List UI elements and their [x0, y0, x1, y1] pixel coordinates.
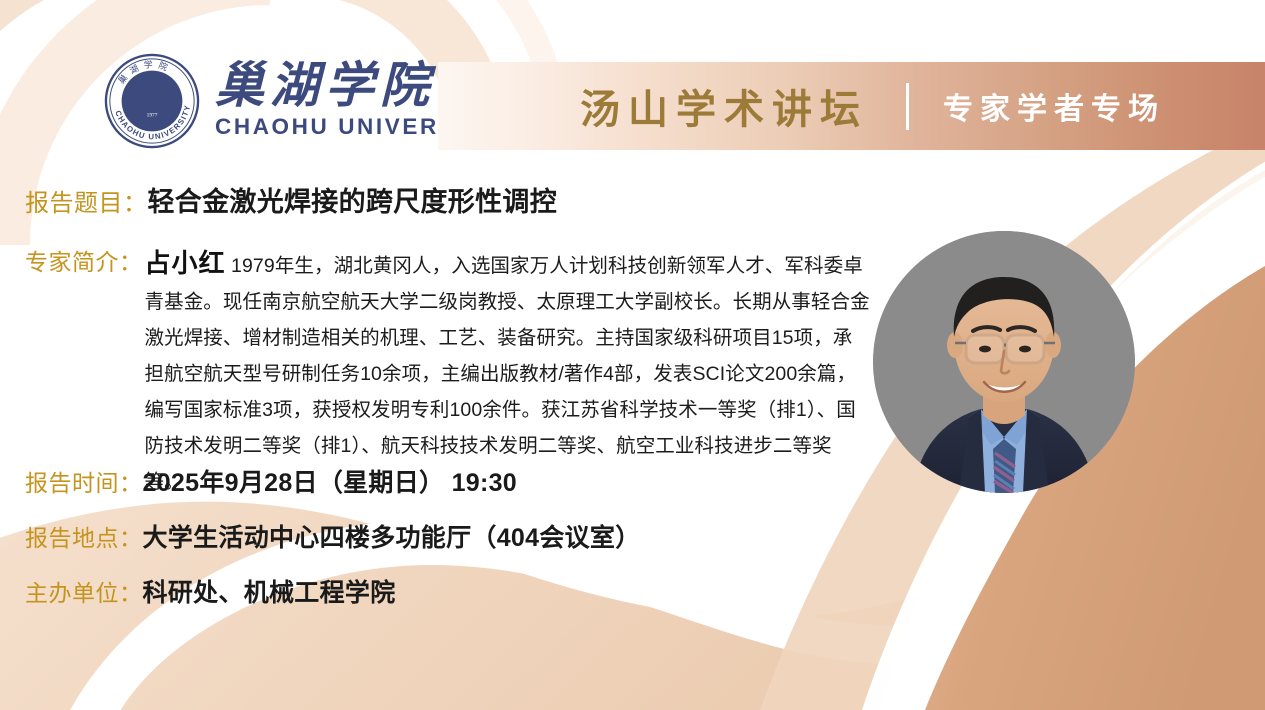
report-title-row: 报告题目： 轻合金激光焊接的跨尺度形性调控	[25, 180, 557, 219]
organizer-value: 科研处、机械工程学院	[143, 573, 396, 609]
report-place-label: 报告地点：	[25, 519, 143, 553]
speaker-bio-label: 专家简介：	[25, 243, 143, 277]
speaker-name: 占小红	[145, 248, 226, 278]
report-place-row: 报告地点： 大学生活动中心四楼多功能厅（404会议室）	[25, 518, 641, 554]
speaker-bio-text: 1979年生，湖北黄冈人，入选国家万人计划科技创新领军人才、军科委卓青基金。现任…	[145, 255, 870, 493]
report-time-row: 报告时间： 2025年9月28日（星期日） 19:30	[25, 463, 517, 499]
speaker-bio-row: 专家简介： 占小红 1979年生，湖北黄冈人，入选国家万人计划科技创新领军人才、…	[25, 243, 885, 500]
lecture-poster: 1977 巢湖学院 CHAOHU UNIVERSITY 巢湖学院 CHAOHU …	[0, 0, 1265, 710]
report-time-label: 报告时间：	[25, 464, 143, 498]
report-place-value: 大学生活动中心四楼多功能厅（404会议室）	[143, 518, 641, 554]
speaker-bio-body: 占小红 1979年生，湖北黄冈人，入选国家万人计划科技创新领军人才、军科委卓青基…	[145, 243, 871, 500]
report-time-value: 2025年9月28日（星期日） 19:30	[143, 463, 518, 499]
organizer-row: 主办单位： 科研处、机械工程学院	[25, 573, 396, 609]
organizer-label: 主办单位：	[25, 574, 143, 608]
report-title-value: 轻合金激光焊接的跨尺度形性调控	[148, 180, 558, 219]
report-title-label: 报告题目：	[25, 183, 148, 218]
speaker-portrait	[873, 231, 1135, 493]
